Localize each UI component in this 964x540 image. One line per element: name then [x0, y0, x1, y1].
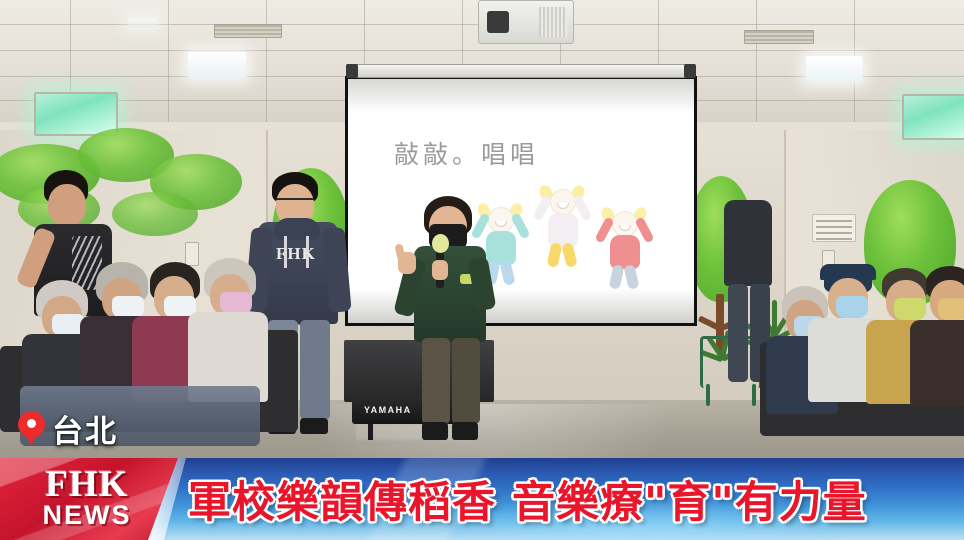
presenter-shoe-right [452, 422, 478, 440]
ceiling-light-panel [128, 18, 158, 28]
presenter-leg-left [422, 338, 450, 424]
host-glasses [276, 198, 314, 204]
audience-member [910, 266, 964, 426]
slide-title: 敲敲。唱唱 [394, 135, 539, 171]
standing-man-head [48, 184, 86, 226]
projector-vents [539, 7, 567, 37]
ceiling-light-panel [188, 52, 246, 78]
location-label: 台北 [52, 406, 118, 451]
ceiling-projector [478, 0, 574, 44]
host-hood [274, 218, 320, 240]
exit-sign-glyph-right [904, 96, 964, 138]
audience-right-group [760, 262, 964, 462]
location-badge: 台北 [18, 406, 118, 451]
channel-logo-secondary: NEWS [43, 502, 132, 529]
ceiling-light-panel [806, 56, 862, 82]
presenter-mic-hand [432, 260, 448, 280]
ceiling-air-vent [744, 30, 814, 44]
standing-person-right-leg [728, 284, 748, 382]
lower-third-banner: FHK NEWS 軍校樂韻傳稻香 音樂療"育"有力量 [0, 458, 964, 540]
exit-sign-icon-right [902, 94, 964, 140]
headline-text: 軍校樂韻傳稻香 音樂療"育"有力量 [188, 466, 867, 532]
wall-notice-sheet [812, 214, 856, 242]
broadcast-frame: 敲敲。唱唱 [0, 0, 964, 540]
presenter-leg-right [452, 338, 480, 424]
channel-logo: FHK NEWS [12, 460, 162, 536]
presenter-shoe-left [422, 422, 448, 440]
microphone-head [432, 234, 449, 253]
host-shoe-right [300, 418, 328, 434]
host-leg-right [300, 320, 330, 420]
presenter-with-microphone [398, 196, 508, 446]
channel-logo-primary: FHK [45, 467, 128, 502]
projector-lens [487, 11, 509, 33]
map-pin-icon [18, 411, 45, 447]
walker-frame-leg [706, 384, 710, 406]
ceiling-air-vent [214, 24, 282, 38]
projection-screen-case [347, 64, 695, 78]
